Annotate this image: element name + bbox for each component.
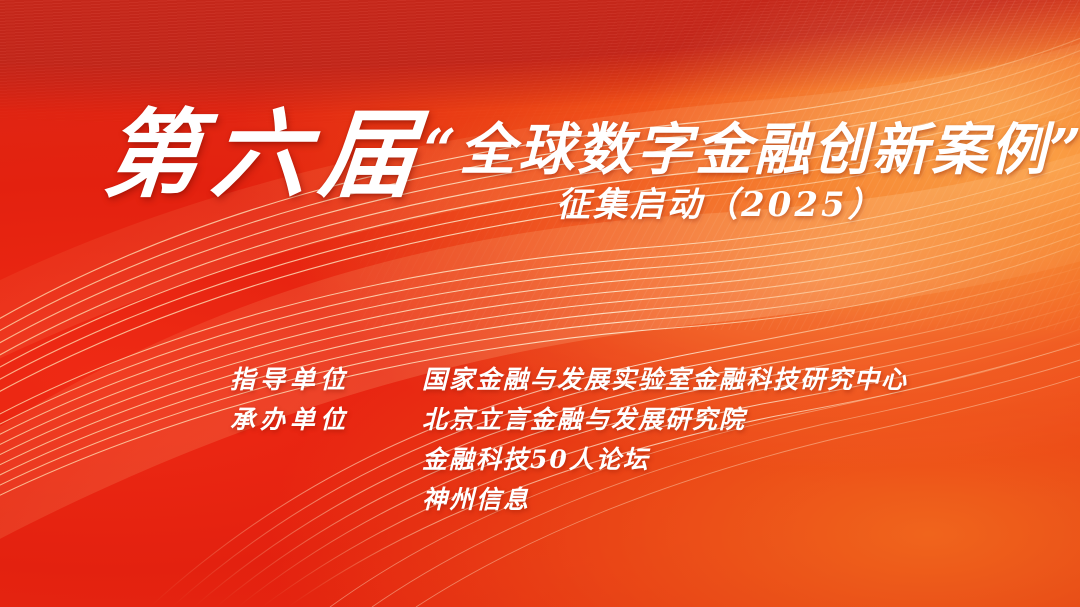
organization-value: 国家金融与发展实验室金融科技研究中心 [422, 360, 908, 400]
page-subtitle: 征集启动（2025） [556, 188, 885, 222]
page-title-quoted: “全球数字金融创新案例” [424, 122, 1080, 178]
organization-row: 承办单位 北京立言金融与发展研究院 [230, 400, 908, 440]
organization-row: 金融科技50人论坛 [230, 440, 908, 480]
poster-canvas: 第六届 “全球数字金融创新案例” 征集启动（2025） 指导单位 国家金融与发展… [0, 0, 1080, 607]
organization-label: 指导单位 [230, 360, 422, 400]
organization-value: 金融科技50人论坛 [422, 440, 908, 480]
page-title-main: 第六届 [100, 107, 432, 203]
organization-value: 神州信息 [422, 480, 908, 520]
organization-label: 承办单位 [230, 400, 422, 440]
organizations-block: 指导单位 国家金融与发展实验室金融科技研究中心 承办单位 北京立言金融与发展研究… [230, 360, 908, 520]
organization-row: 神州信息 [230, 480, 908, 520]
organization-value: 北京立言金融与发展研究院 [422, 400, 908, 440]
organization-row: 指导单位 国家金融与发展实验室金融科技研究中心 [230, 360, 908, 400]
